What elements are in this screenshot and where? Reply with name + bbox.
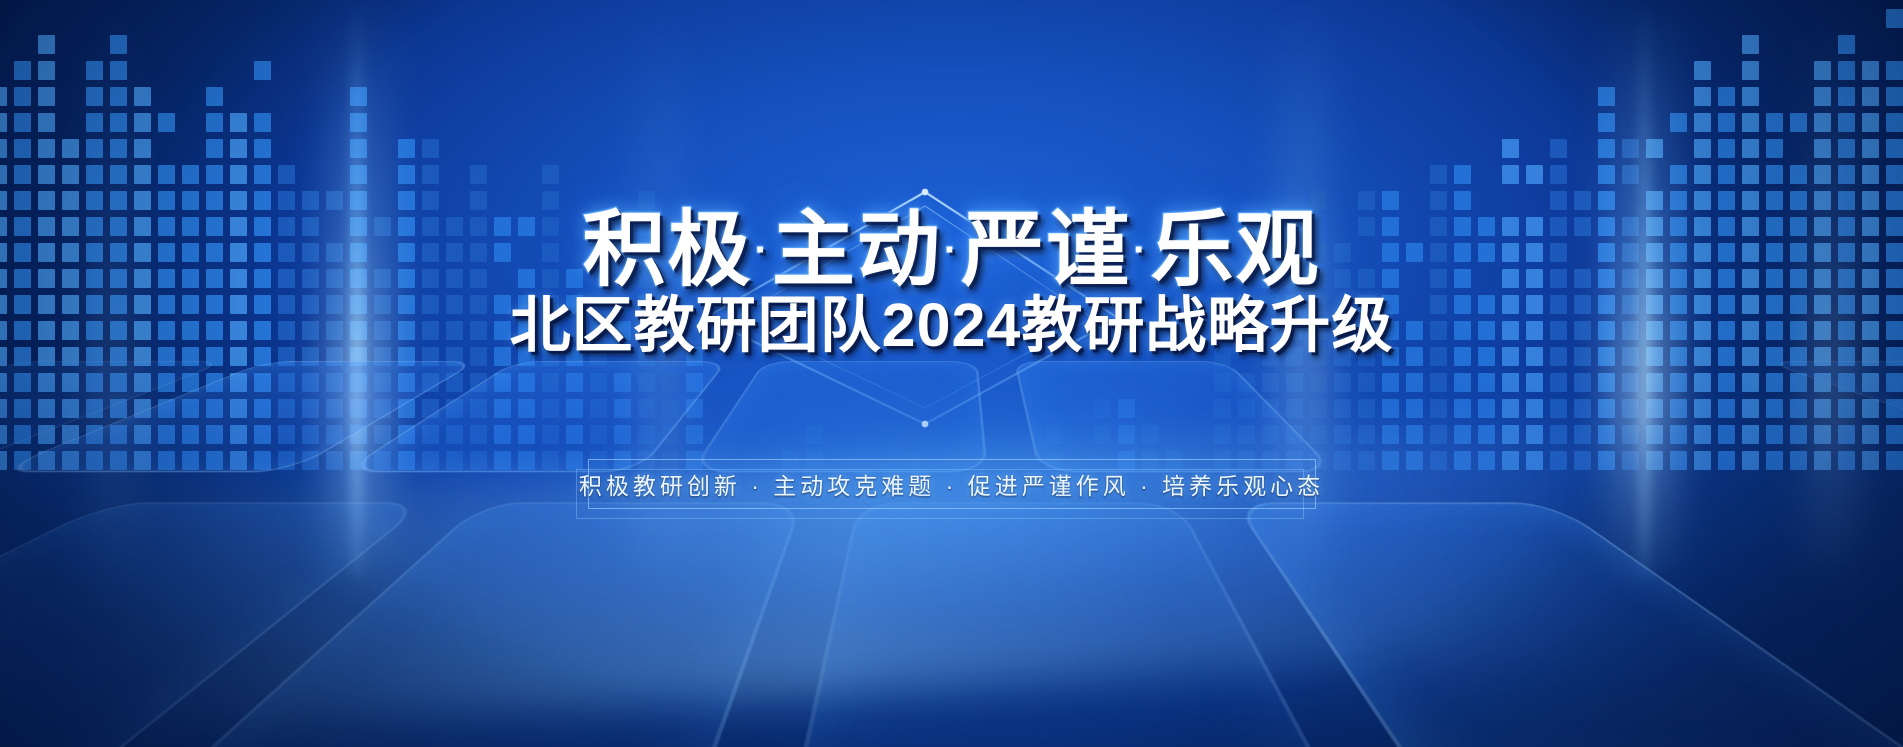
- tagline-frame-group: 积极教研创新 · 主动攻克难题 · 促进严谨作风 · 培养乐观心态: [588, 459, 1316, 509]
- headline-separator: ·: [755, 228, 770, 272]
- headline-separator: ·: [944, 228, 959, 272]
- banner-content: 积极·主动·严谨·乐观 北区教研团队2024教研战略升级 积极教研创新 · 主动…: [0, 0, 1903, 747]
- subtitle: 北区教研团队2024教研战略升级: [0, 275, 1903, 364]
- promo-banner: 积极·主动·严谨·乐观 北区教研团队2024教研战略升级 积极教研创新 · 主动…: [0, 0, 1903, 747]
- headline-separator: ·: [1133, 228, 1148, 272]
- tagline: 积极教研创新 · 主动攻克难题 · 促进严谨作风 · 培养乐观心态: [588, 459, 1316, 509]
